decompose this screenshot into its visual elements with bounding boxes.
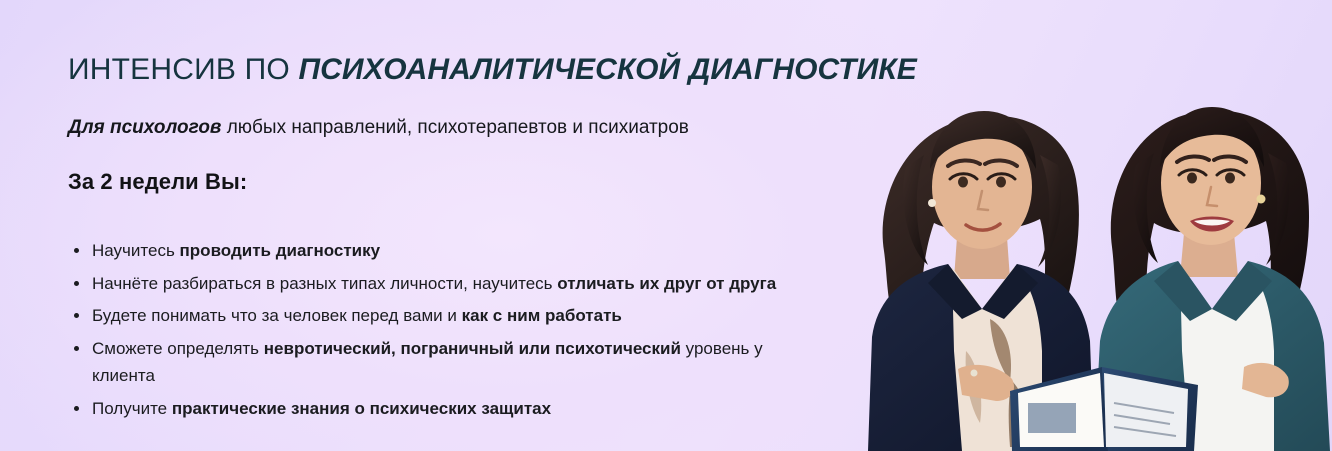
- item-text-before: Начнёте разбираться в разных типах лично…: [92, 274, 557, 293]
- item-text-before: Сможете определять: [92, 339, 264, 358]
- subtitle-rest: любых направлений, психотерапевтов и пси…: [221, 117, 688, 138]
- promo-banner: ИНТЕНСИВ ПО ПСИХОАНАЛИТИЧЕСКОЙ ДИАГНОСТИ…: [0, 0, 1332, 451]
- instructors-photo: [862, 51, 1332, 451]
- subtitle: Для психологов любых направлений, психот…: [68, 116, 868, 141]
- lead-heading: За 2 недели Вы:: [68, 169, 868, 195]
- item-text-strong: проводить диагностику: [180, 241, 381, 260]
- list-item: Начнёте разбираться в разных типах лично…: [68, 270, 828, 298]
- headline-emphasis: ПСИХОАНАЛИТИЧЕСКОЙ ДИАГНОСТИКЕ: [298, 53, 916, 86]
- item-text-before: Научитесь: [92, 241, 180, 260]
- text-content: ИНТЕНСИВ ПО ПСИХОАНАЛИТИЧЕСКОЙ ДИАГНОСТИ…: [68, 52, 868, 427]
- headline-plain: ИНТЕНСИВ ПО: [68, 53, 298, 86]
- item-text-strong: отличать их друг от друга: [557, 274, 776, 293]
- item-text-strong: невротический, пограничный или психотиче…: [264, 339, 681, 358]
- open-book: [1010, 367, 1198, 451]
- instructor-left: [868, 111, 1094, 451]
- item-text-before: Будете понимать что за человек перед вам…: [92, 306, 462, 325]
- benefits-list: Научитесь проводить диагностику Начнёте …: [68, 237, 868, 422]
- item-text-strong: практические знания о психических защита…: [172, 399, 551, 418]
- item-text-strong: как с ним работать: [462, 306, 622, 325]
- list-item: Научитесь проводить диагностику: [68, 237, 828, 265]
- instructor-right: [1094, 107, 1330, 451]
- list-item: Сможете определять невротический, погран…: [68, 335, 828, 390]
- page-title: ИНТЕНСИВ ПО ПСИХОАНАЛИТИЧЕСКОЙ ДИАГНОСТИ…: [68, 52, 868, 87]
- list-item: Будете понимать что за человек перед вам…: [68, 302, 828, 330]
- subtitle-emphasis: Для психологов: [68, 117, 221, 138]
- list-item: Получите практические знания о психическ…: [68, 395, 828, 423]
- item-text-before: Получите: [92, 399, 172, 418]
